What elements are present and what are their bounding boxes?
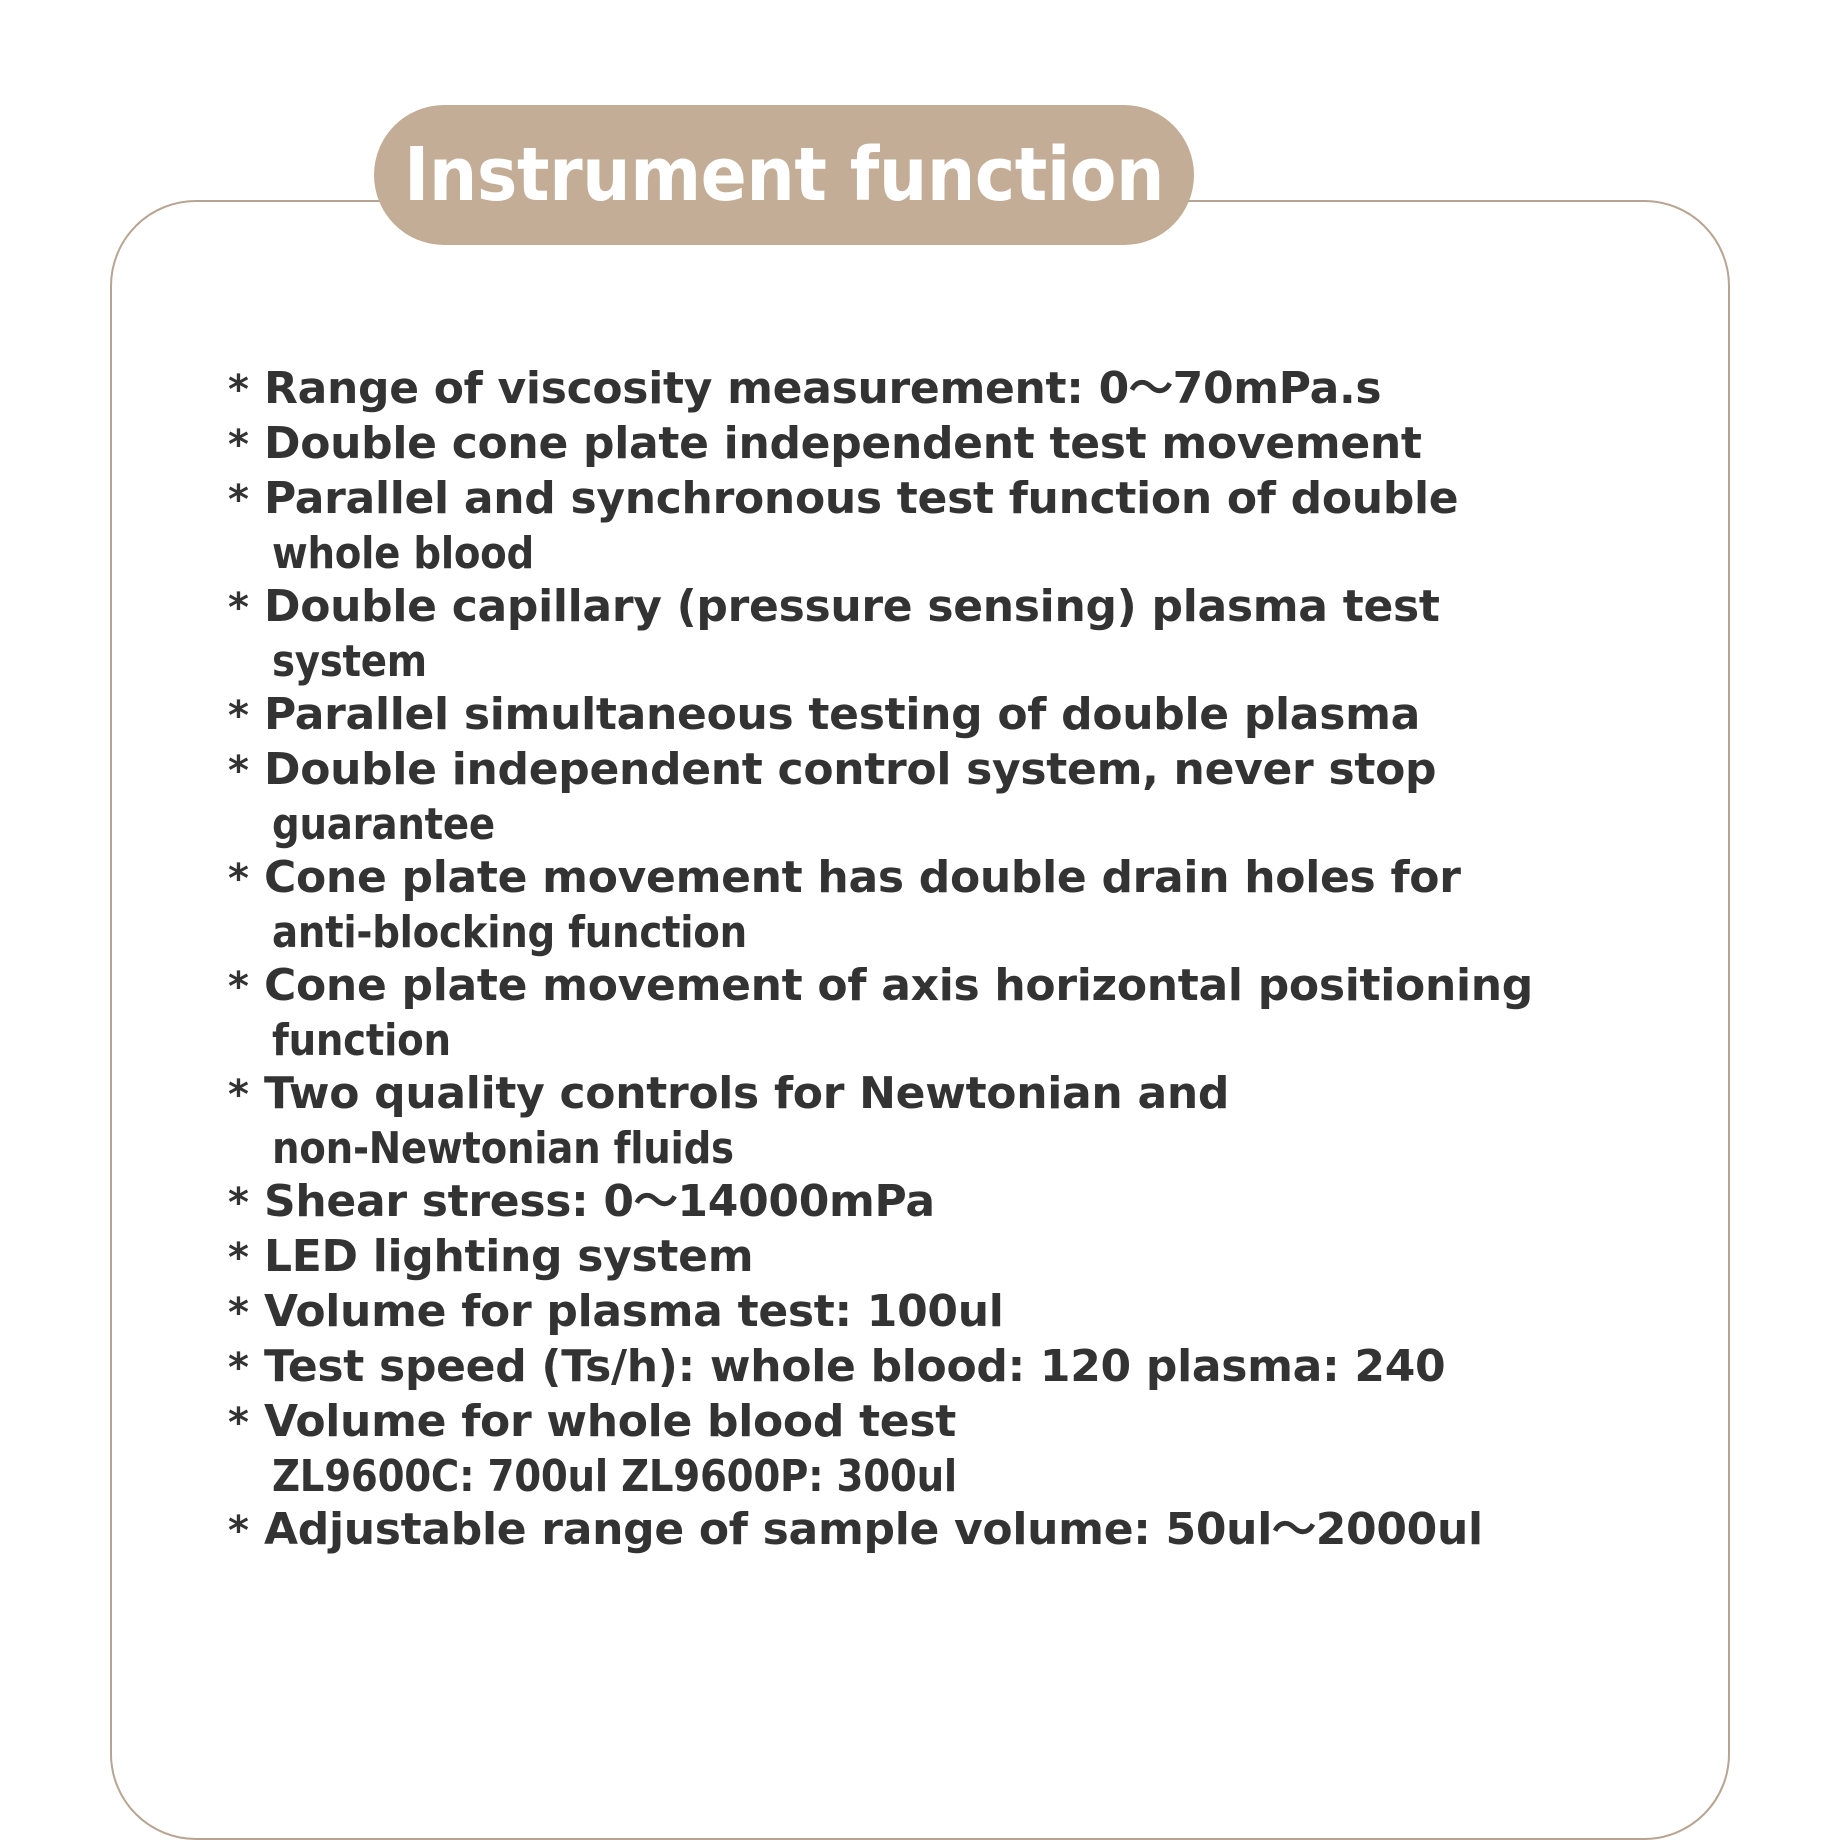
list-item: *Double cone plate independent test move… — [228, 417, 1648, 472]
list-item: *Adjustable range of sample volume: 50ul… — [228, 1503, 1648, 1558]
asterisk-bullet-icon: * — [228, 961, 264, 1014]
list-item-text: Shear stress: 0～14000mPa — [264, 1176, 935, 1227]
list-item-continuation: whole blood — [228, 527, 1648, 580]
list-item-text: function — [272, 1014, 451, 1067]
list-item: *LED lighting system — [228, 1230, 1648, 1285]
list-item-text: non-Newtonian fluids — [272, 1122, 734, 1175]
asterisk-bullet-icon: * — [228, 1069, 264, 1122]
asterisk-bullet-icon: * — [228, 690, 264, 743]
list-item: *Double capillary (pressure sensing) pla… — [228, 580, 1648, 635]
list-item-text: guarantee — [272, 798, 495, 851]
list-item: *Volume for whole blood test — [228, 1395, 1648, 1450]
list-item-text: Double cone plate independent test movem… — [264, 418, 1422, 469]
list-item-text: system — [272, 635, 427, 688]
list-item: *Volume for plasma test: 100ul — [228, 1285, 1648, 1340]
page-title: Instrument function — [404, 138, 1164, 212]
list-item-text: Test speed (Ts/h): whole blood: 120 plas… — [264, 1341, 1445, 1392]
list-item-text: Volume for plasma test: 100ul — [264, 1286, 1004, 1337]
asterisk-bullet-icon: * — [228, 474, 264, 527]
list-item-text: Adjustable range of sample volume: 50ul～… — [264, 1504, 1483, 1555]
asterisk-bullet-icon: * — [228, 419, 264, 472]
asterisk-bullet-icon: * — [228, 745, 264, 798]
list-item-text: Range of viscosity measurement: 0～70mPa.… — [264, 363, 1381, 414]
asterisk-bullet-icon: * — [228, 1287, 264, 1340]
asterisk-bullet-icon: * — [228, 1232, 264, 1285]
list-item-continuation: ZL9600C: 700ul ZL9600P: 300ul — [228, 1450, 1648, 1503]
list-item-continuation: non-Newtonian fluids — [228, 1122, 1648, 1175]
list-item-text: LED lighting system — [264, 1231, 753, 1282]
list-item: *Two quality controls for Newtonian and — [228, 1067, 1648, 1122]
list-item-text: ZL9600C: 700ul ZL9600P: 300ul — [272, 1450, 957, 1503]
list-item: *Cone plate movement has double drain ho… — [228, 851, 1648, 906]
list-item-continuation: system — [228, 635, 1648, 688]
asterisk-bullet-icon: * — [228, 1177, 264, 1230]
list-item-text: Parallel simultaneous testing of double … — [264, 689, 1420, 740]
asterisk-bullet-icon: * — [228, 1505, 264, 1558]
asterisk-bullet-icon: * — [228, 582, 264, 635]
asterisk-bullet-icon: * — [228, 853, 264, 906]
list-item: *Cone plate movement of axis horizontal … — [228, 959, 1648, 1014]
list-item: *Test speed (Ts/h): whole blood: 120 pla… — [228, 1340, 1648, 1395]
list-item: *Range of viscosity measurement: 0～70mPa… — [228, 362, 1648, 417]
list-item-continuation: function — [228, 1014, 1648, 1067]
asterisk-bullet-icon: * — [228, 1397, 264, 1450]
list-item: *Parallel and synchronous test function … — [228, 472, 1648, 527]
list-item: *Shear stress: 0～14000mPa — [228, 1175, 1648, 1230]
list-item-text: anti-blocking function — [272, 906, 747, 959]
list-item-continuation: guarantee — [228, 798, 1648, 851]
list-item-continuation: anti-blocking function — [228, 906, 1648, 959]
asterisk-bullet-icon: * — [228, 364, 264, 417]
list-item-text: Cone plate movement of axis horizontal p… — [264, 960, 1533, 1011]
list-item-text: Two quality controls for Newtonian and — [264, 1068, 1229, 1119]
list-item-text: Volume for whole blood test — [264, 1396, 956, 1447]
list-item: *Double independent control system, neve… — [228, 743, 1648, 798]
section-title-badge: Instrument function — [374, 105, 1194, 245]
list-item-text: Double capillary (pressure sensing) plas… — [264, 581, 1440, 632]
list-item: *Parallel simultaneous testing of double… — [228, 688, 1648, 743]
list-item-text: Cone plate movement has double drain hol… — [264, 852, 1461, 903]
list-item-text: Double independent control system, never… — [264, 744, 1436, 795]
instrument-function-list: *Range of viscosity measurement: 0～70mPa… — [228, 362, 1648, 1558]
list-item-text: Parallel and synchronous test function o… — [264, 473, 1458, 524]
list-item-text: whole blood — [272, 527, 534, 580]
asterisk-bullet-icon: * — [228, 1342, 264, 1395]
